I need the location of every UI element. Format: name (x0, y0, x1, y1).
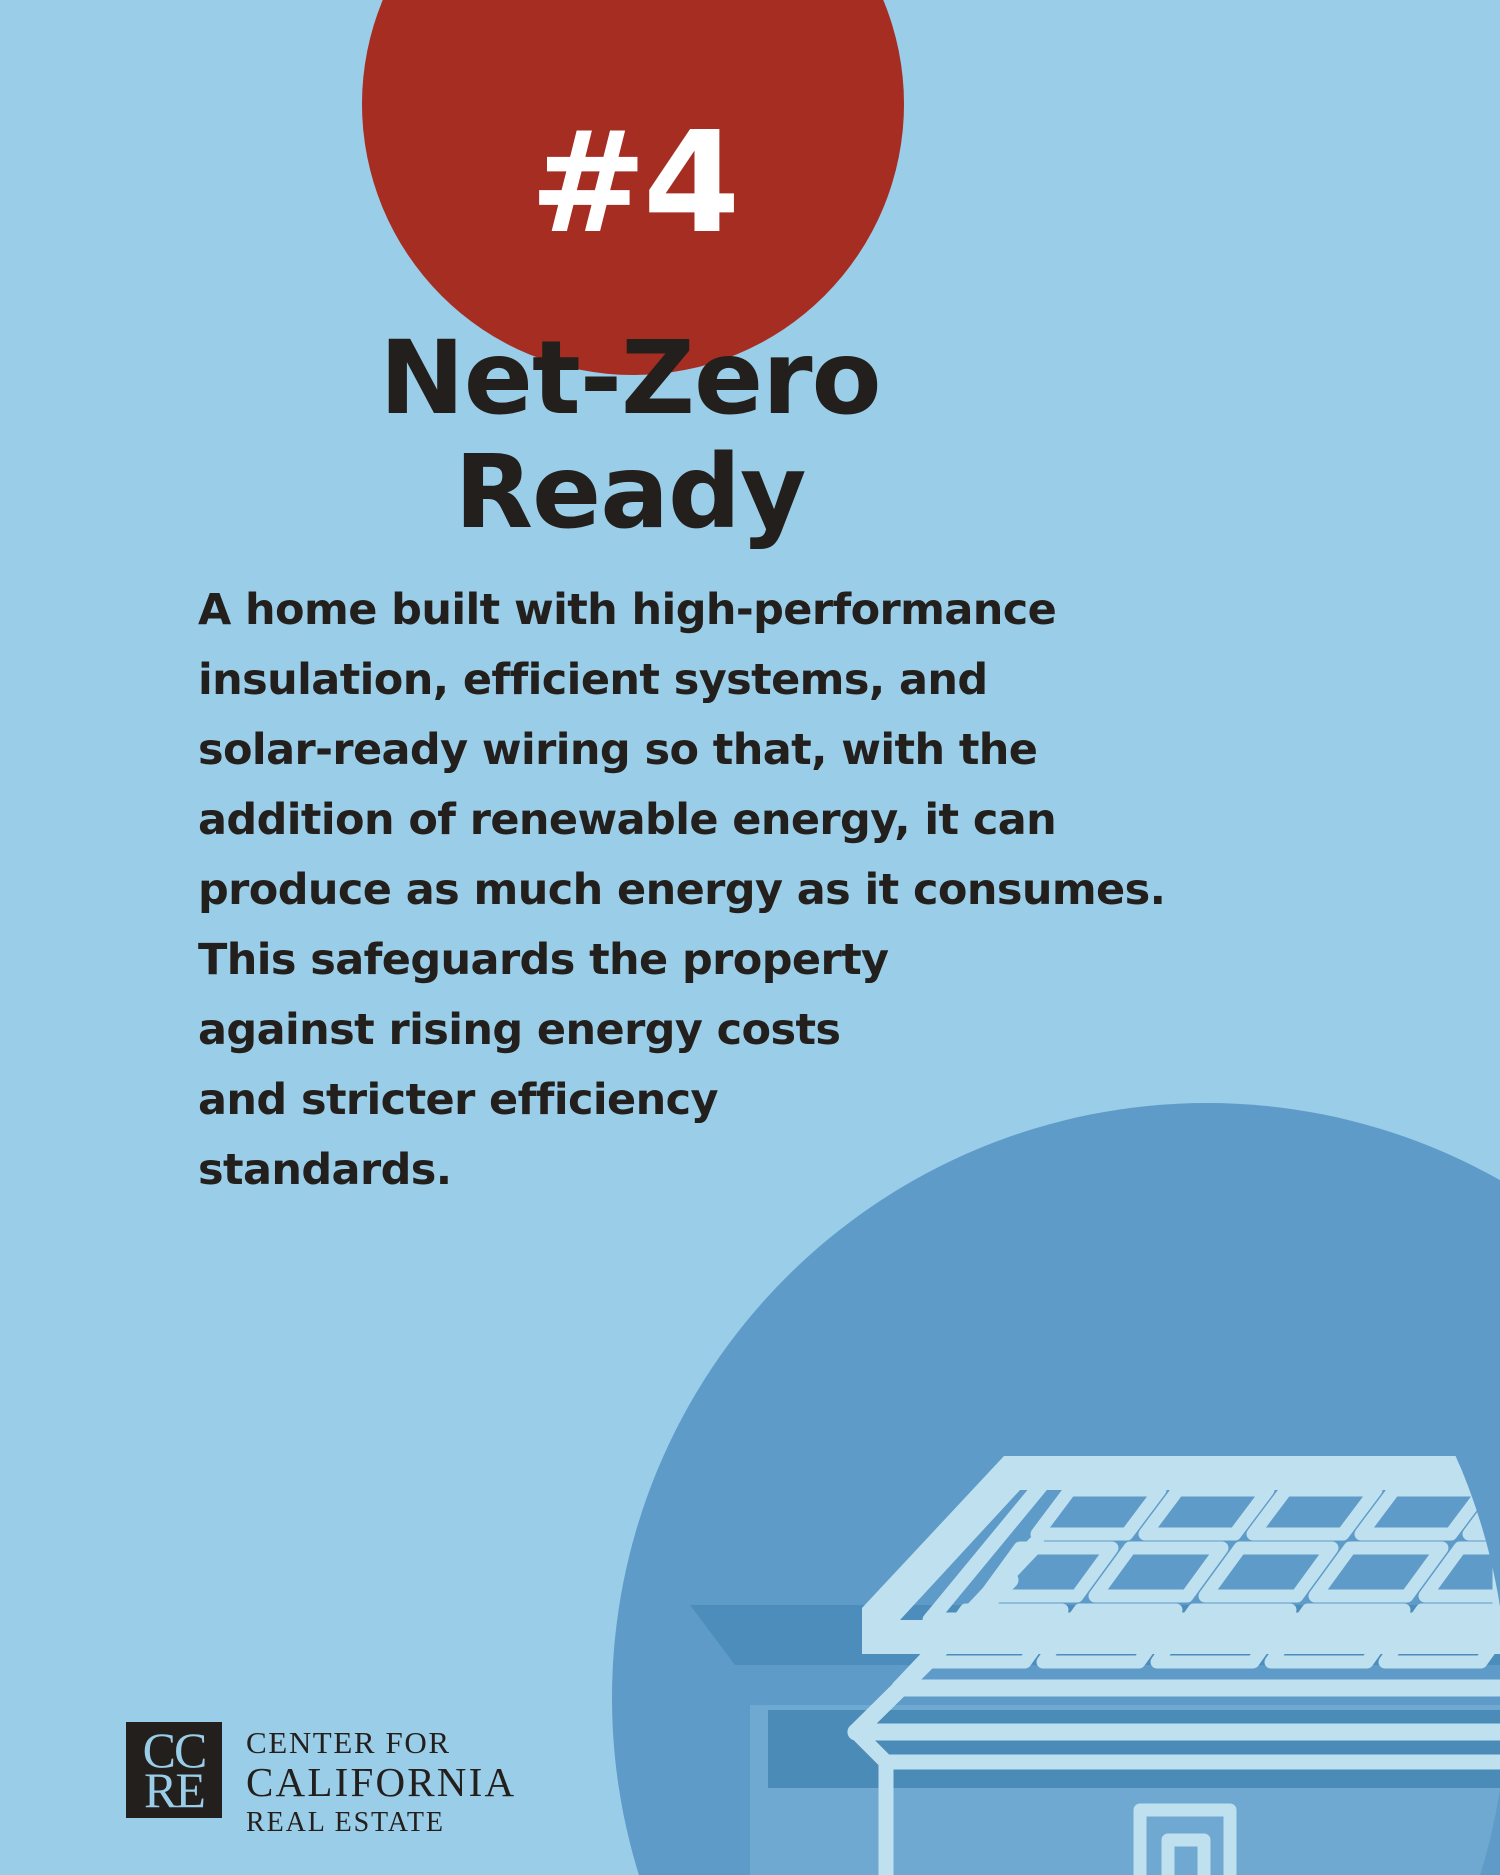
ccre-logo-mark: CC RE (126, 1722, 222, 1818)
ccre-logo: CC RE CENTER FOR CALIFORNIA REAL ESTATE (126, 1722, 516, 1840)
body-line: addition of renewable energy, it can (198, 785, 1098, 855)
body-line: standards. (198, 1135, 1098, 1205)
body-line: insulation, efficient systems, and (198, 645, 1098, 715)
body-line: solar-ready wiring so that, with the (198, 715, 1098, 785)
ccre-logo-monogram-bottom: RE (144, 1770, 204, 1810)
body-line: A home built with high-performance (198, 575, 1098, 645)
poster-canvas: #4 Net-Zero Ready A home built with high… (0, 0, 1500, 1875)
page-title-line-1: Net-Zero (0, 322, 1260, 436)
body-line: and stricter efficiency (198, 1065, 1098, 1135)
ccre-logo-line-1: CENTER FOR (246, 1726, 516, 1760)
body-line: produce as much energy as it consumes. (198, 855, 1098, 925)
page-title: Net-Zero Ready (0, 322, 1260, 550)
body-line: This safeguards the property (198, 925, 1098, 995)
page-title-line-2: Ready (0, 436, 1260, 550)
ccre-logo-line-3: REAL ESTATE (246, 1806, 516, 1840)
ccre-logo-wordmark: CENTER FOR CALIFORNIA REAL ESTATE (246, 1722, 516, 1840)
ccre-logo-line-2: CALIFORNIA (246, 1760, 516, 1806)
body-copy: A home built with high-performance insul… (198, 575, 1098, 1205)
body-line: against rising energy costs (198, 995, 1098, 1065)
ccre-logo-monogram: CC RE (130, 1726, 218, 1814)
